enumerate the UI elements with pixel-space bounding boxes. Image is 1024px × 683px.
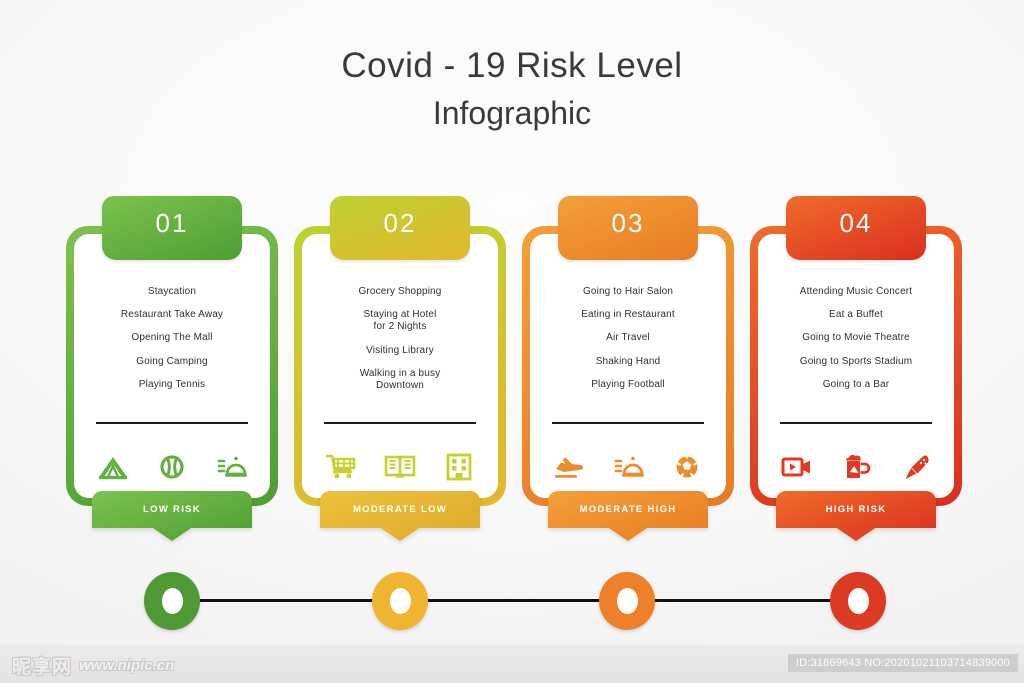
card-icon-row [84, 452, 260, 482]
timeline-dot-hole [617, 588, 638, 614]
tent-icon [96, 452, 130, 482]
risk-level-label: LOW RISK [143, 504, 201, 515]
card-body: Going to Hair SalonEating in RestaurantA… [530, 234, 726, 498]
activity-item: Going to Movie Theatre [762, 332, 950, 344]
card-number-label: 01 [156, 210, 189, 236]
timeline-dot-2[interactable] [372, 572, 428, 630]
card-body: Grocery ShoppingStaying at Hotel for 2 N… [302, 234, 498, 498]
activity-item: Visiting Library [306, 345, 494, 357]
card-divider [552, 422, 704, 424]
risk-level-label: HIGH RISK [826, 504, 887, 515]
airplane-icon [552, 452, 586, 482]
card-number-tab[interactable]: 02 [330, 196, 470, 260]
activity-item: Air Travel [534, 332, 722, 344]
open-book-icon [383, 452, 417, 482]
page-title: Covid - 19 Risk Level Infographic [0, 44, 1024, 134]
card-icon-row [768, 452, 944, 482]
activity-item: Attending Music Concert [762, 286, 950, 298]
activity-item: Opening The Mall [78, 332, 266, 344]
risk-level-tab[interactable]: MODERATE HIGH [548, 491, 708, 541]
activity-item: Eat a Buffet [762, 309, 950, 321]
card-number-label: 02 [384, 210, 417, 236]
risk-card-02: Grocery ShoppingStaying at Hotel for 2 N… [294, 196, 506, 541]
timeline-dot-hole [162, 588, 183, 614]
risk-level-tab[interactable]: MODERATE LOW [320, 491, 480, 541]
card-divider [780, 422, 932, 424]
activity-list: Going to Hair SalonEating in RestaurantA… [534, 286, 722, 402]
card-body: StaycationRestaurant Take AwayOpening Th… [74, 234, 270, 498]
activity-item: Eating in Restaurant [534, 309, 722, 321]
activity-item: Playing Football [534, 379, 722, 391]
activity-item: Restaurant Take Away [78, 309, 266, 321]
title-line-1: Covid - 19 Risk Level [0, 44, 1024, 89]
card-icon-row [540, 452, 716, 482]
watermark-logo-cn: 昵享网 [12, 652, 72, 679]
watermark-logo: 昵享网 www.nipic.cn [12, 652, 174, 679]
card-number-label: 04 [840, 210, 873, 236]
beer-mug-icon [839, 452, 873, 482]
timeline-dot-1[interactable] [144, 572, 200, 630]
card-frame: Grocery ShoppingStaying at Hotel for 2 N… [294, 226, 506, 506]
food-cloche-icon [214, 452, 248, 482]
card-divider [96, 422, 248, 424]
soccer-ball-icon [670, 452, 704, 482]
title-line-2: Infographic [0, 93, 1024, 135]
timeline-dot-hole [390, 588, 411, 614]
activity-list: Attending Music ConcertEat a BuffetGoing… [762, 286, 950, 402]
risk-level-label: MODERATE LOW [353, 504, 447, 515]
activity-item: Staying at Hotel for 2 Nights [306, 309, 494, 333]
activity-item: Going to Sports Stadium [762, 356, 950, 368]
tennis-ball-icon [155, 452, 189, 482]
video-camera-icon [780, 452, 814, 482]
card-icon-row [312, 452, 488, 482]
activity-list: StaycationRestaurant Take AwayOpening Th… [78, 286, 266, 402]
shopping-cart-icon [324, 452, 358, 482]
watermark-id-text: ID:31869643 NO:20201021103714839000 [788, 654, 1018, 672]
microphone-icon [898, 452, 932, 482]
timeline [66, 572, 964, 630]
timeline-dot-hole [848, 588, 869, 614]
activity-item: Going Camping [78, 356, 266, 368]
timeline-dot-4[interactable] [830, 572, 886, 630]
activity-list: Grocery ShoppingStaying at Hotel for 2 N… [306, 286, 494, 403]
activity-item: Shaking Hand [534, 356, 722, 368]
card-frame: Going to Hair SalonEating in RestaurantA… [522, 226, 734, 506]
card-number-tab[interactable]: 03 [558, 196, 698, 260]
activity-item: Grocery Shopping [306, 286, 494, 298]
activity-item: Walking in a busy Downtown [306, 368, 494, 392]
card-frame: Attending Music ConcertEat a BuffetGoing… [750, 226, 962, 506]
card-number-label: 03 [612, 210, 645, 236]
building-icon [442, 452, 476, 482]
activity-item: Staycation [78, 286, 266, 298]
food-cloche-icon [611, 452, 645, 482]
activity-item: Going to a Bar [762, 379, 950, 391]
risk-level-tab[interactable]: LOW RISK [92, 491, 252, 541]
risk-card-01: StaycationRestaurant Take AwayOpening Th… [66, 196, 278, 541]
timeline-dot-3[interactable] [599, 572, 655, 630]
timeline-connector-line [172, 599, 858, 602]
risk-level-tab[interactable]: HIGH RISK [776, 491, 936, 541]
footer-watermark-bar: 昵享网 www.nipic.cn ID:31869643 NO:20201021… [0, 645, 1024, 683]
risk-level-label: MODERATE HIGH [580, 504, 677, 515]
risk-card-04: Attending Music ConcertEat a BuffetGoing… [750, 196, 962, 541]
card-number-tab[interactable]: 01 [102, 196, 242, 260]
risk-cards-row: StaycationRestaurant Take AwayOpening Th… [66, 196, 964, 541]
card-divider [324, 422, 476, 424]
card-frame: StaycationRestaurant Take AwayOpening Th… [66, 226, 278, 506]
activity-item: Going to Hair Salon [534, 286, 722, 298]
card-body: Attending Music ConcertEat a BuffetGoing… [758, 234, 954, 498]
watermark-logo-url: www.nipic.cn [79, 657, 174, 674]
activity-item: Playing Tennis [78, 379, 266, 391]
risk-card-03: Going to Hair SalonEating in RestaurantA… [522, 196, 734, 541]
card-number-tab[interactable]: 04 [786, 196, 926, 260]
